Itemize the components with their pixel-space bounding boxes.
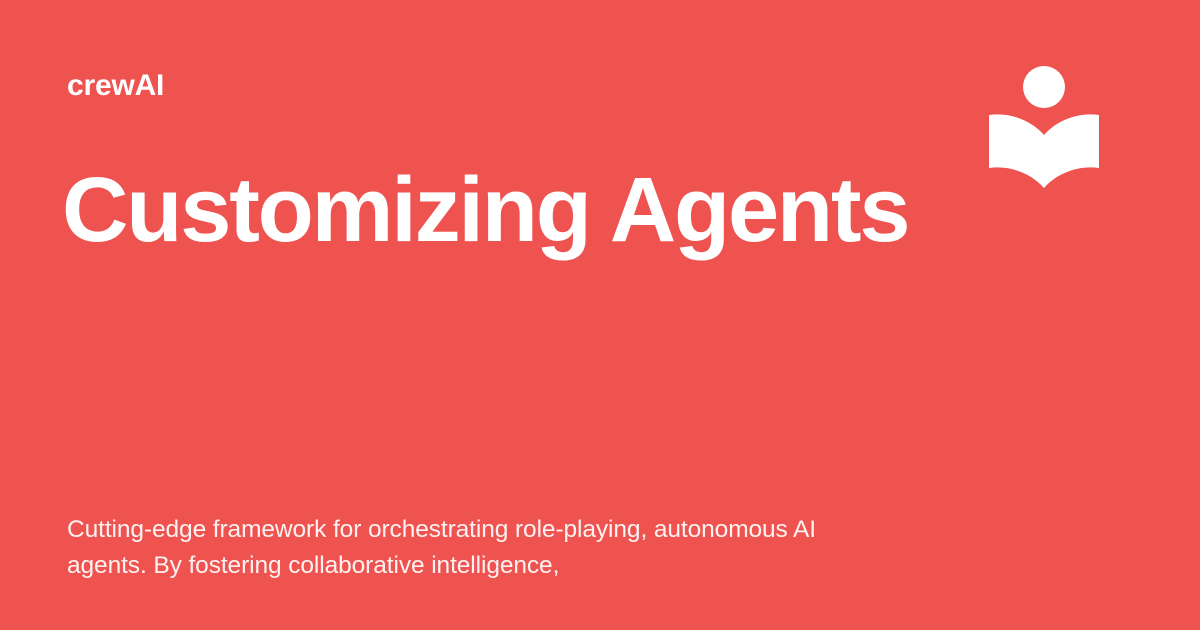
brand-wordmark: crewAI <box>67 71 164 101</box>
page-description: Cutting-edge framework for orchestrating… <box>67 512 887 585</box>
og-card: crewAI Customizing Agents Cutting-edge f… <box>0 0 1200 630</box>
open-book-reader-logo-icon <box>987 66 1101 190</box>
page-title: Customizing Agents <box>62 160 962 260</box>
